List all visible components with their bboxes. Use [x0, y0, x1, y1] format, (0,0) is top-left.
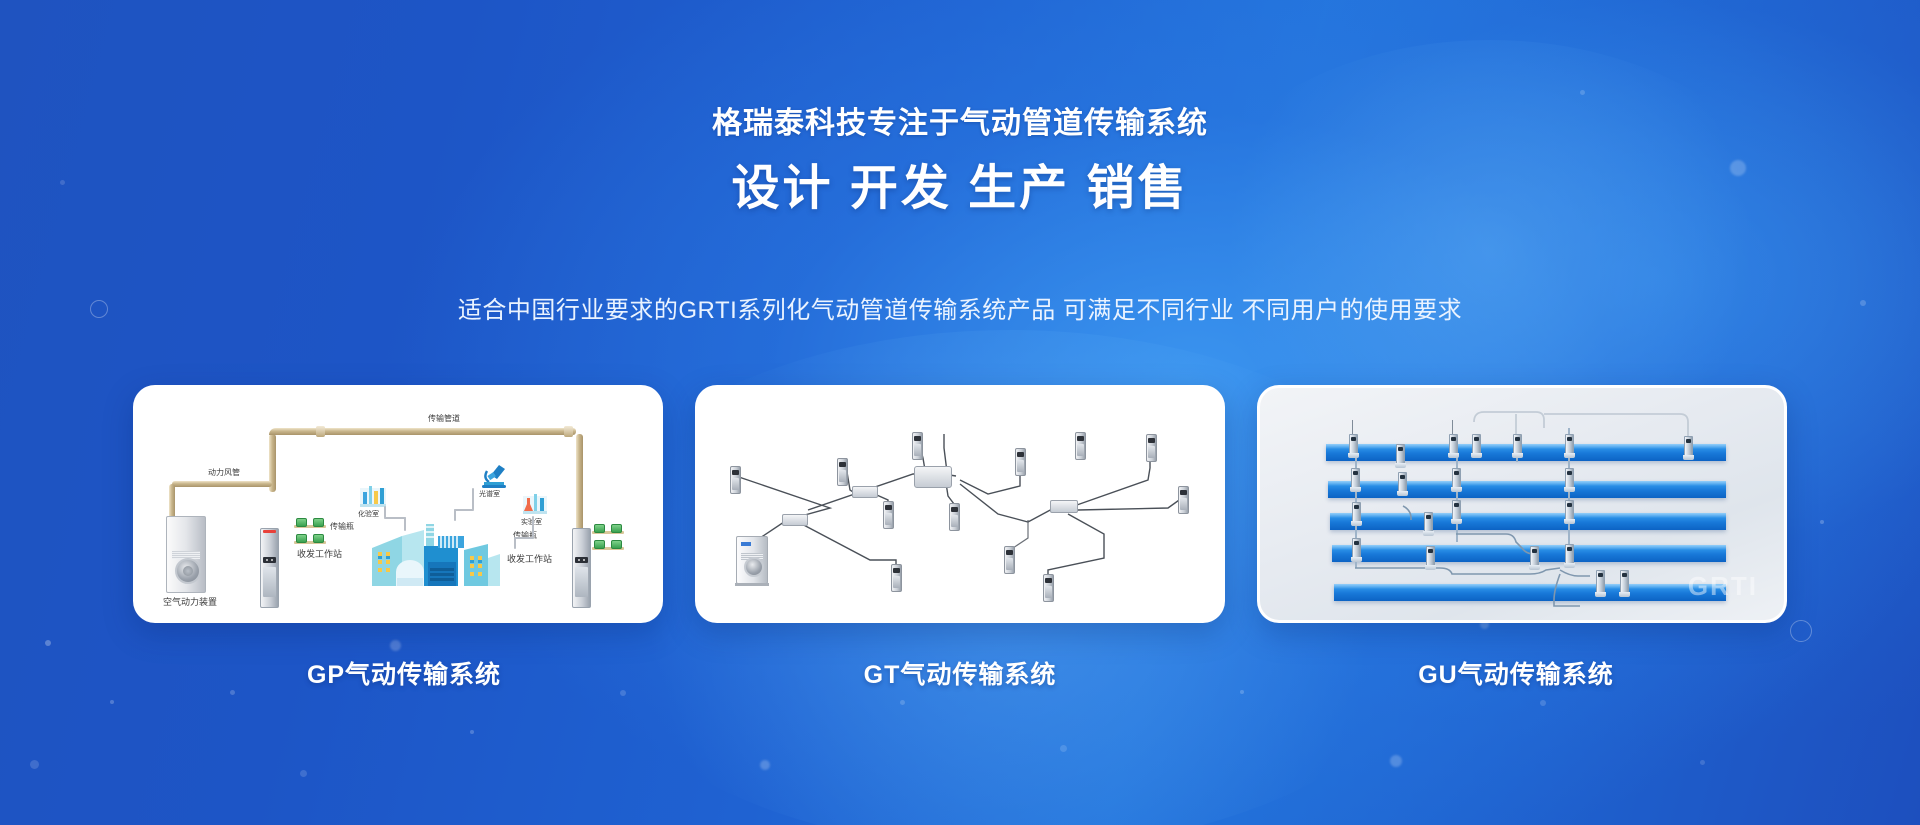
pipe-left-elbow — [269, 428, 283, 435]
gt-diverter — [782, 514, 808, 526]
gt-workstation — [730, 466, 741, 494]
gu-workstation — [1349, 434, 1358, 455]
station-base — [1451, 519, 1462, 524]
label-chem-lab: 化验室 — [358, 509, 379, 519]
station-base — [1564, 519, 1575, 524]
lab-connector-pipe — [404, 517, 406, 531]
carrier-bottle — [313, 518, 324, 527]
page-title: 格瑞泰科技专注于气动管道传输系统 — [0, 98, 1920, 142]
test-lab-connector-pipe — [514, 537, 534, 539]
test-lab-connector-pipe — [532, 516, 534, 538]
carrier-bottle — [296, 534, 307, 543]
gt-network-lines — [698, 388, 1222, 620]
station-base — [1423, 531, 1434, 536]
station-base — [1448, 453, 1459, 458]
microscope-icon — [479, 462, 511, 490]
carrier-bottle — [594, 524, 605, 533]
gu-workstation — [1684, 436, 1693, 457]
gt-diverter — [914, 466, 952, 488]
product-card-gt[interactable] — [695, 385, 1225, 623]
station-base — [1348, 453, 1359, 458]
pipe-joint — [564, 426, 573, 437]
label-carrier-left: 传输瓶 — [330, 521, 354, 532]
carrier-bottle — [296, 518, 307, 527]
station-screen — [263, 557, 276, 563]
spectro-connector-pipe — [472, 488, 474, 510]
carrier-bottle — [313, 534, 324, 543]
label-spectro-room: 光谱室 — [479, 489, 500, 499]
product-card-list: 传输管道 动力风管 空气动力装置 — [0, 385, 1920, 635]
unit-badge — [741, 542, 751, 546]
gt-workstation — [891, 564, 902, 592]
gu-workstation — [1452, 500, 1461, 521]
label-pipeline: 传输管道 — [428, 413, 460, 424]
station-base — [1564, 453, 1575, 458]
gt-workstation — [1015, 448, 1026, 476]
station-base — [1350, 487, 1361, 492]
station-screen — [575, 557, 588, 563]
gu-workstation — [1452, 468, 1461, 489]
station-base — [1529, 565, 1540, 570]
page-description: 适合中国行业要求的GRTI系列化气动管道传输系统产品 可满足不同行业 不同用户的… — [0, 290, 1920, 325]
label-power-duct: 动力风管 — [208, 467, 240, 478]
gt-workstation — [1075, 432, 1086, 460]
gt-workstation — [1178, 486, 1189, 514]
gu-valve-unit — [1596, 570, 1605, 594]
gu-diagram: GRTI — [1260, 388, 1784, 620]
station-base — [1451, 487, 1462, 492]
gu-workstation — [1472, 434, 1481, 455]
pipe-joint — [316, 426, 325, 437]
gu-workstation — [1426, 546, 1435, 567]
spectro-connector-pipe — [454, 509, 456, 521]
gu-workstation — [1352, 502, 1361, 523]
caption-gt: GT气动传输系统 — [698, 655, 1222, 695]
caption-gu: GU气动传输系统 — [1254, 655, 1778, 695]
carrier-bottle — [611, 524, 622, 533]
gt-diagram — [698, 388, 1222, 620]
station-base — [1395, 463, 1406, 468]
carrier-bottle — [611, 540, 622, 549]
station-tube-window — [575, 567, 588, 597]
workstation-right — [572, 528, 591, 608]
air-power-unit — [166, 516, 206, 593]
label-station-left: 收发工作站 — [297, 547, 342, 560]
caption-gp: GP气动传输系统 — [142, 655, 666, 695]
station-base — [1512, 453, 1523, 458]
gu-workstation — [1565, 468, 1574, 489]
station-base — [1564, 563, 1575, 568]
station-base — [1425, 565, 1436, 570]
station-tube-window — [263, 567, 276, 597]
gt-diverter — [852, 486, 878, 498]
product-card-gu[interactable]: GRTI — [1257, 385, 1787, 623]
gu-workstation — [1424, 512, 1433, 533]
workstation-left — [260, 528, 279, 608]
station-base — [1351, 557, 1362, 562]
unit-fan-icon — [744, 557, 764, 577]
gu-workstation — [1449, 434, 1458, 455]
gt-workstation — [1146, 434, 1157, 462]
gt-workstation — [1043, 574, 1054, 602]
power-duct-horizontal — [172, 481, 272, 487]
station-pole — [1452, 420, 1453, 434]
gu-workstation — [1565, 434, 1574, 455]
label-air-power-unit: 空气动力装置 — [163, 595, 217, 608]
gt-workstation — [912, 432, 923, 460]
lab-connector-pipe — [384, 517, 406, 519]
gt-workstation — [949, 503, 960, 531]
label-station-right: 收发工作站 — [507, 552, 552, 565]
unit-base — [735, 583, 769, 586]
gu-workstation — [1530, 546, 1539, 567]
power-duct-vertical — [169, 484, 175, 520]
gu-workstation — [1398, 472, 1407, 493]
gu-valve-unit — [1620, 570, 1629, 594]
gt-workstation — [1004, 546, 1015, 574]
station-base — [1564, 487, 1575, 492]
gu-workstation — [1565, 544, 1574, 565]
station-pole — [1352, 420, 1353, 434]
valve-base — [1619, 592, 1630, 597]
page-subtitle-large: 设计 开发 生产 销售 — [0, 148, 1920, 218]
gt-workstation — [883, 501, 894, 529]
gu-workstation — [1351, 468, 1360, 489]
gu-workstation — [1396, 444, 1405, 465]
carrier-bottle — [594, 540, 605, 549]
spectro-connector-pipe — [454, 509, 474, 511]
gu-watermark: GRTI — [1688, 571, 1758, 602]
blower-fan-icon — [175, 558, 201, 584]
gp-diagram: 传输管道 动力风管 空气动力装置 — [136, 388, 660, 620]
test-lab-connector-pipe — [514, 537, 516, 549]
station-base — [1397, 491, 1408, 496]
station-base — [1351, 521, 1362, 526]
station-base — [1471, 453, 1482, 458]
gt-workstation — [837, 458, 848, 486]
promo-banner: 格瑞泰科技专注于气动管道传输系统 设计 开发 生产 销售 适合中国行业要求的GR… — [0, 0, 1920, 825]
gu-workstation — [1352, 538, 1361, 559]
test-lab-icon — [521, 492, 549, 518]
station-indicator — [263, 530, 276, 533]
gu-workstation — [1513, 434, 1522, 455]
gt-diverter — [1050, 500, 1078, 513]
gu-workstation — [1565, 500, 1574, 521]
gt-power-unit — [736, 536, 768, 584]
station-base — [1683, 455, 1694, 460]
valve-base — [1595, 592, 1606, 597]
product-card-gp[interactable]: 传输管道 动力风管 空气动力装置 — [133, 385, 663, 623]
product-caption-list: GP气动传输系统 GT气动传输系统 GU气动传输系统 — [0, 655, 1920, 695]
